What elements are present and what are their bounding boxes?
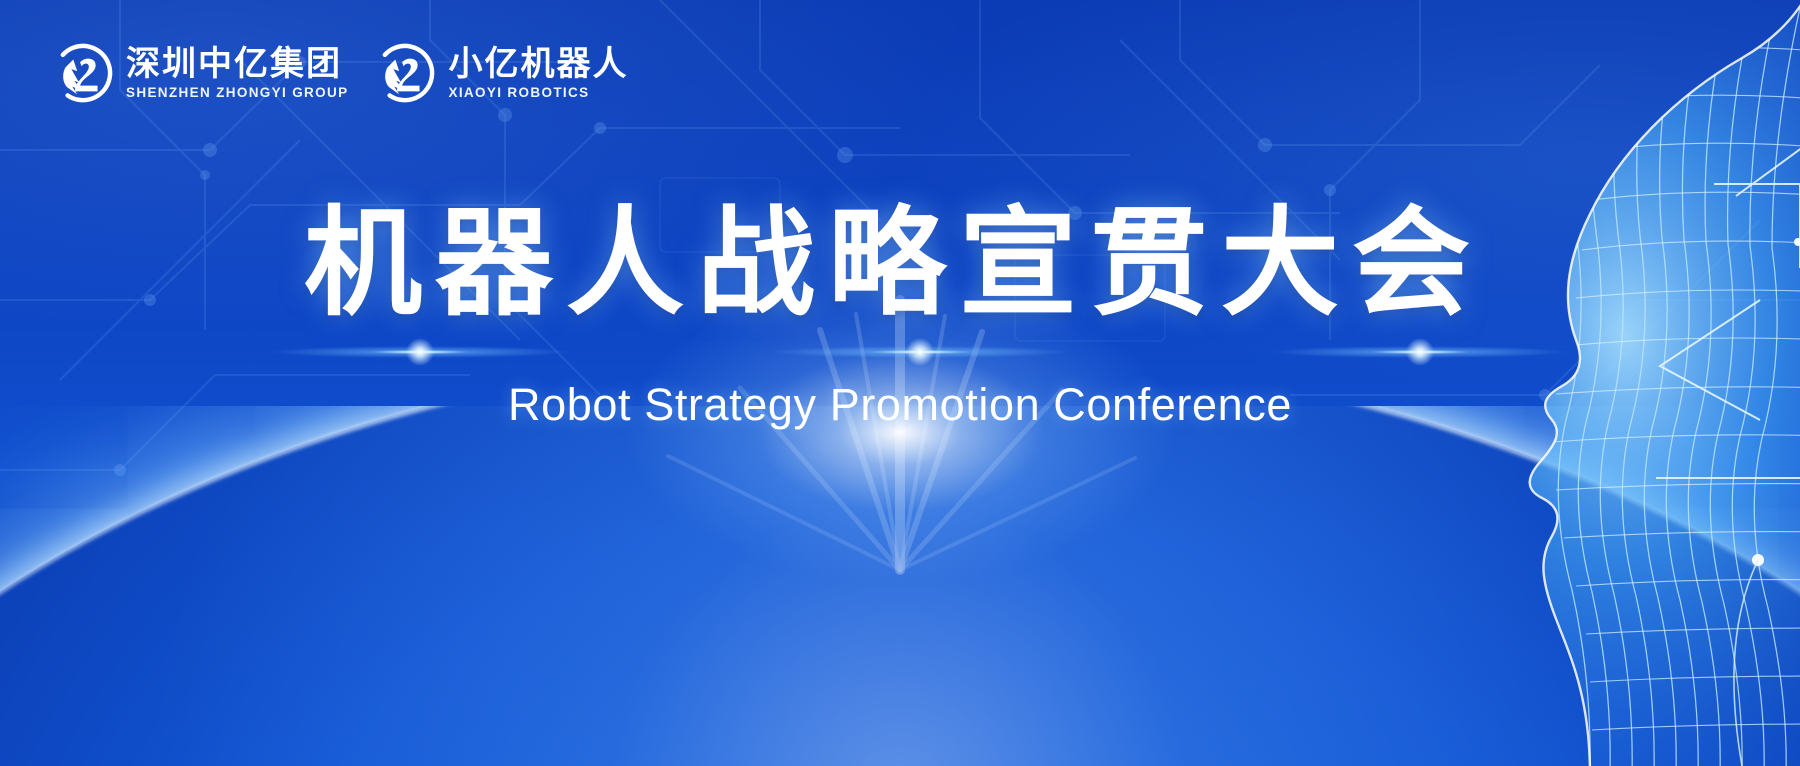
xiaoyi-emblem-icon [374, 42, 436, 104]
logo-xiaoyi-en: XIAOYI ROBOTICS [448, 85, 628, 100]
logo-zhongyi-text: 深圳中亿集团 SHENZHEN ZHONGYI GROUP [126, 46, 348, 100]
title-block: 机器人战略宣贯大会 Robot Strategy Promotion Confe… [0, 196, 1800, 431]
light-flare-right [1270, 346, 1570, 358]
logo-zhongyi[interactable]: 深圳中亿集团 SHENZHEN ZHONGYI GROUP [52, 42, 348, 104]
light-flare-left [270, 346, 570, 358]
logo-xiaoyi[interactable]: 小亿机器人 XIAOYI ROBOTICS [374, 42, 628, 104]
logo-xiaoyi-cn: 小亿机器人 [448, 46, 628, 82]
light-flare-row [0, 339, 1800, 365]
light-flare-center [770, 346, 1070, 358]
conference-title-en: Robot Strategy Promotion Conference [0, 379, 1800, 431]
logo-group: 深圳中亿集团 SHENZHEN ZHONGYI GROUP 小亿机器人 XIAO… [52, 42, 628, 104]
conference-title-cn: 机器人战略宣贯大会 [304, 196, 1496, 333]
logo-zhongyi-en: SHENZHEN ZHONGYI GROUP [126, 85, 348, 100]
logo-zhongyi-cn: 深圳中亿集团 [126, 46, 348, 82]
conference-banner: 深圳中亿集团 SHENZHEN ZHONGYI GROUP 小亿机器人 XIAO… [0, 0, 1800, 766]
zhongyi-emblem-icon [52, 42, 114, 104]
logo-xiaoyi-text: 小亿机器人 XIAOYI ROBOTICS [448, 46, 628, 100]
